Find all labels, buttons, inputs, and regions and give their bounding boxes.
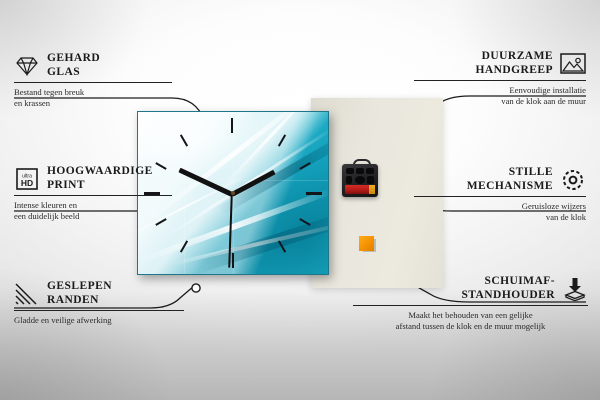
- feature-title-2: GLAS: [47, 66, 100, 80]
- clock-movement: [342, 164, 378, 197]
- feature-hoogwaardige-print: ultra HD HOOGWAARDIGE PRINT Intense kleu…: [14, 165, 172, 222]
- feature-desc-1: Geruisloze wijzers: [414, 201, 586, 212]
- diamond-icon: [14, 54, 40, 78]
- gear-icon: [560, 168, 586, 192]
- feature-title-2: STANDHOUDER: [353, 289, 555, 303]
- feature-title-2: MECHANISME: [467, 180, 553, 194]
- feature-divider: [14, 310, 184, 311]
- feature-title-2: PRINT: [47, 179, 153, 193]
- feature-desc-2: afstand tussen de klok en de muur mogeli…: [353, 321, 588, 332]
- ultra-hd-icon: ultra HD: [14, 167, 40, 191]
- feature-title: GESLEPEN: [47, 280, 112, 294]
- foam-standoff: [359, 236, 374, 251]
- feature-desc-2: van de klok: [414, 212, 586, 223]
- feature-desc-1: Gladde en veilige afwerking: [14, 315, 184, 326]
- clock-center-pin: [231, 191, 235, 195]
- feature-desc-1: Bestand tegen breuk: [14, 87, 172, 98]
- feature-schuimafstandhouder: SCHUIMAF- STANDHOUDER Maakt het behouden…: [353, 275, 588, 332]
- feature-divider: [353, 305, 588, 306]
- feature-gehard-glas: GEHARD GLAS Bestand tegen breuk en krass…: [14, 52, 172, 109]
- feature-stille-mechanisme: STILLE MECHANISME Geruisloze wijzers van…: [414, 166, 586, 223]
- feature-desc-2: een duidelijk beeld: [14, 211, 172, 222]
- feature-desc-2: van de klok aan de muur: [414, 96, 586, 107]
- feature-divider: [14, 195, 172, 196]
- feature-divider: [414, 196, 586, 197]
- feature-desc-1: Maakt het behouden van een gelijke: [353, 310, 588, 321]
- feature-title: GEHARD: [47, 52, 100, 66]
- feature-title: DUURZAME: [475, 50, 553, 64]
- feature-desc-1: Eenvoudige installatie: [414, 85, 586, 96]
- feature-geslepen-randen: GESLEPEN RANDEN Gladde en veilige afwerk…: [14, 280, 184, 326]
- feature-divider: [14, 82, 172, 83]
- svg-text:HD: HD: [21, 178, 33, 188]
- battery: [345, 185, 375, 194]
- feature-duurzame-handgreep: DUURZAME HANDGREEP Eenvoudige installati…: [414, 50, 586, 107]
- feature-desc-1: Intense kleuren en: [14, 200, 172, 211]
- diagonal-lines-icon: [14, 282, 40, 306]
- feature-title: STILLE: [467, 166, 553, 180]
- feature-title-2: RANDEN: [47, 294, 112, 308]
- feature-desc-2: en krassen: [14, 98, 172, 109]
- feature-divider: [414, 80, 586, 81]
- feature-title-2: HANDGREEP: [475, 64, 553, 78]
- movement-body: [342, 164, 378, 197]
- picture-frame-icon: [560, 52, 586, 76]
- feature-title: SCHUIMAF-: [353, 275, 555, 289]
- press-down-arrow-icon: [562, 277, 588, 301]
- product-infographic: GEHARD GLAS Bestand tegen breuk en krass…: [0, 0, 600, 400]
- feature-title: HOOGWAARDIGE: [47, 165, 153, 179]
